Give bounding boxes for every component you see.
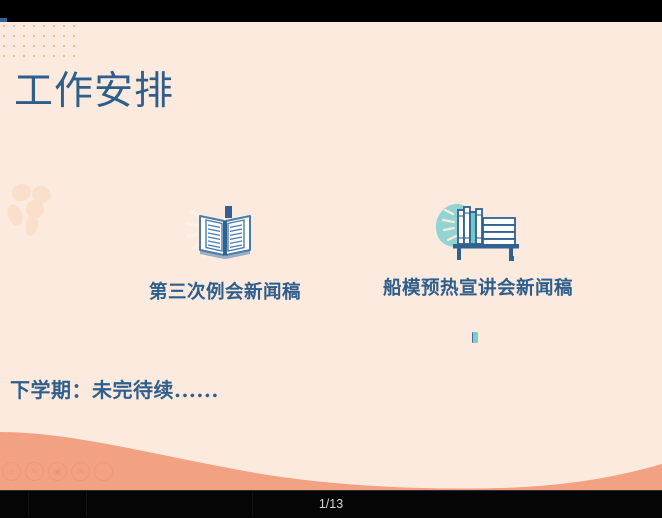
dot-shape xyxy=(73,25,75,27)
content-item-2: 船模预热宣讲会新闻稿 xyxy=(358,194,598,300)
dot-shape xyxy=(43,45,45,47)
dot-shape xyxy=(33,35,35,37)
slide-canvas: 工作安排 xyxy=(0,22,662,490)
home-icon: ⌂ xyxy=(2,462,21,481)
tick-mark-decoration xyxy=(472,332,478,343)
dot-shape xyxy=(23,25,25,27)
dot-shape xyxy=(13,55,15,57)
dot-shape xyxy=(53,45,55,47)
dot-shape xyxy=(3,45,5,47)
dot-shape xyxy=(63,55,65,57)
pen-icon: ✎ xyxy=(25,462,44,481)
dot-shape xyxy=(23,45,25,47)
dot-shape xyxy=(63,35,65,37)
content-item-1: 第三次例会新闻稿 xyxy=(115,198,335,304)
dot-shape xyxy=(53,25,55,27)
presentation-viewer: 工作安排 xyxy=(0,0,662,518)
bottom-toolbar: 1/13 xyxy=(0,490,662,518)
more-icon: ··· xyxy=(94,462,113,481)
dot-shape xyxy=(23,55,25,57)
page-title: 工作安排 xyxy=(14,72,174,113)
dot-shape xyxy=(73,55,75,57)
dot-shape xyxy=(53,35,55,37)
dot-shape xyxy=(63,25,65,27)
dot-shape xyxy=(3,55,5,57)
bookshelf-bench-icon xyxy=(423,194,533,260)
dot-shape xyxy=(73,45,75,47)
content-item-label: 船模预热宣讲会新闻稿 xyxy=(358,274,598,300)
dot-shape xyxy=(3,25,5,27)
open-book-icon xyxy=(170,198,280,264)
dot-shape xyxy=(73,35,75,37)
dot-shape xyxy=(43,25,45,27)
content-item-label: 第三次例会新闻稿 xyxy=(115,278,335,304)
dot-shape xyxy=(53,55,55,57)
dot-shape xyxy=(23,35,25,37)
dot-shape xyxy=(13,45,15,47)
dot-shape xyxy=(3,35,5,37)
dot-shape xyxy=(33,45,35,47)
dot-shape xyxy=(43,35,45,37)
dot-shape xyxy=(13,25,15,27)
petal-cluster-decoration xyxy=(6,182,62,236)
footer-note: 下学期：未完待续...... xyxy=(10,374,219,403)
dot-shape xyxy=(63,45,65,47)
wave-icon-row: ⌂ ✎ ▣ ✉ ··· xyxy=(2,462,113,481)
petal-shape xyxy=(24,213,40,237)
dot-grid-decoration xyxy=(3,25,79,59)
top-letterbox-bar xyxy=(0,0,662,22)
dot-shape xyxy=(33,55,35,57)
petal-shape xyxy=(4,202,25,228)
dot-shape xyxy=(43,55,45,57)
page-indicator[interactable]: 1/13 xyxy=(0,490,662,518)
dot-shape xyxy=(33,25,35,27)
mail-icon: ✉ xyxy=(71,462,90,481)
dot-shape xyxy=(13,35,15,37)
image-icon: ▣ xyxy=(48,462,67,481)
